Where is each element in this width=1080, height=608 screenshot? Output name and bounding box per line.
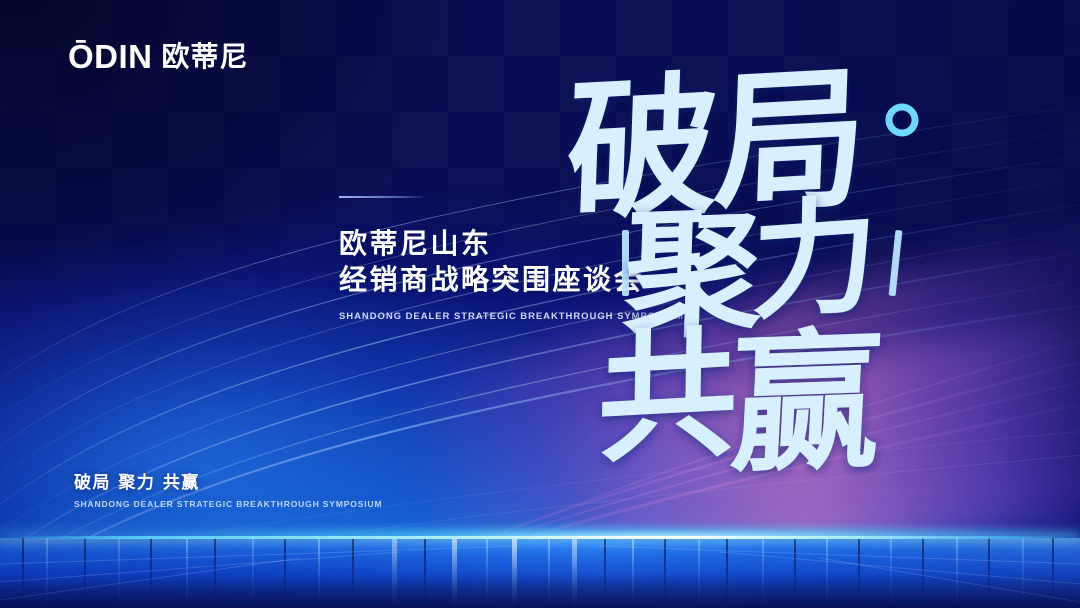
hero-char-line3-left: 共	[596, 313, 739, 484]
footer-slogan-block: 破局 聚力 共赢 SHANDONG DEALER STRATEGIC BREAK…	[74, 468, 382, 509]
hero-char-line2-right: 力	[750, 181, 878, 337]
brand-logo[interactable]: ŌDIN 欧蒂尼	[68, 40, 249, 73]
bottom-fade	[0, 574, 1080, 608]
title-divider-rule	[339, 196, 423, 198]
horizon-light-line	[0, 536, 1080, 539]
circle-accent-icon	[889, 107, 915, 133]
footer-slogan-chinese: 破局 聚力 共赢	[74, 468, 382, 493]
hero-char-line3-right: 赢	[727, 315, 886, 494]
poster-stage: ŌDIN 欧蒂尼 欧蒂尼山东 经销商战略突围座谈会 SHANDONG DEALE…	[0, 0, 1080, 608]
bar-right-accent	[889, 230, 903, 296]
hero-calligraphy: 破局 聚 力 共 赢	[566, 50, 986, 470]
logo-chinese-name: 欧蒂尼	[162, 43, 249, 71]
footer-slogan-english: SHANDONG DEALER STRATEGIC BREAKTHROUGH S…	[74, 499, 382, 509]
logo-wordmark: ŌDIN	[68, 40, 153, 73]
